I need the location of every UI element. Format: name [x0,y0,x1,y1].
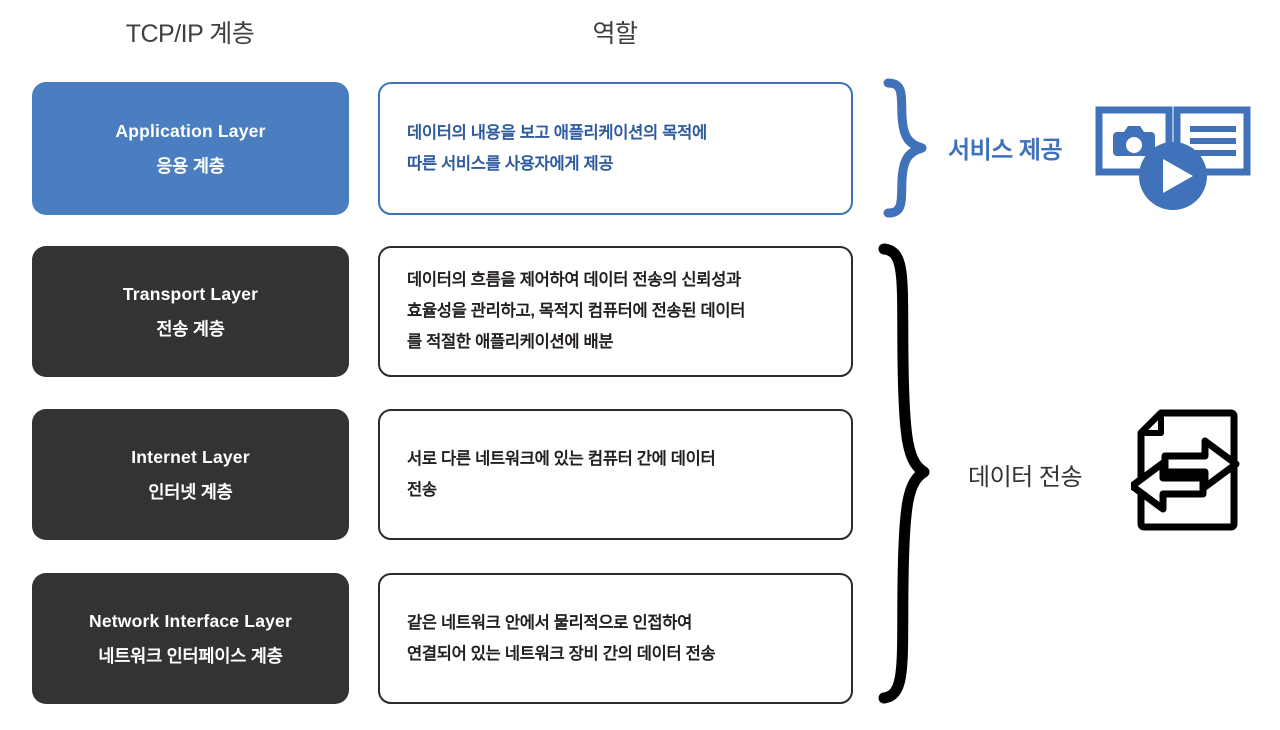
curly-brace-right-icon [872,240,938,708]
diagram-canvas: TCP/IP 계층 역할 Application Layer 응용 계층 Tra… [0,0,1280,730]
role-text-line: 서로 다른 네트워크에 있는 컴퓨터 간에 데이터 [407,444,824,475]
role-text-line: 효율성을 관리하고, 목적지 컴퓨터에 전송된 데이터 [407,296,824,327]
role-text-line: 를 적절한 애플리케이션에 배분 [407,327,824,358]
layer-box-internet[interactable]: Internet Layer 인터넷 계층 [32,409,349,540]
role-box-internet[interactable]: 서로 다른 네트워크에 있는 컴퓨터 간에 데이터 전송 [378,409,853,540]
layer-name-ko: 인터넷 계층 [148,482,232,502]
layer-name-en: Network Interface Layer [89,611,292,631]
layer-name-ko: 네트워크 인터페이스 계층 [98,646,282,666]
layer-box-application[interactable]: Application Layer 응용 계층 [32,82,349,215]
layer-name-en: Transport Layer [123,284,258,304]
role-text-line: 연결되어 있는 네트워크 장비 간의 데이터 전송 [407,639,824,670]
document-exchange-icon [1131,408,1241,532]
group-label-service-provision: 서비스 제공 [948,130,1062,165]
role-text-line: 같은 네트워크 안에서 물리적으로 인접하여 [407,608,824,639]
column-header-role: 역할 [592,14,637,50]
role-text-line: 따른 서비스를 사용자에게 제공 [407,149,824,180]
curly-brace-right-icon [880,76,936,220]
media-player-icon [1095,104,1251,216]
layer-box-network-interface[interactable]: Network Interface Layer 네트워크 인터페이스 계층 [32,573,349,704]
layer-box-transport[interactable]: Transport Layer 전송 계층 [32,246,349,377]
group-label-data-transfer: 데이터 전송 [968,457,1082,492]
role-box-application[interactable]: 데이터의 내용을 보고 애플리케이션의 목적에 따른 서비스를 사용자에게 제공 [378,82,853,215]
role-box-network-interface[interactable]: 같은 네트워크 안에서 물리적으로 인접하여 연결되어 있는 네트워크 장비 간… [378,573,853,704]
role-box-transport[interactable]: 데이터의 흐름을 제어하여 데이터 전송의 신뢰성과 효율성을 관리하고, 목적… [378,246,853,377]
role-text-line: 전송 [407,475,824,506]
layer-name-ko: 응용 계층 [156,156,224,176]
layer-name-en: Application Layer [115,121,265,141]
role-text-line: 데이터의 내용을 보고 애플리케이션의 목적에 [407,118,824,149]
role-text-line: 데이터의 흐름을 제어하여 데이터 전송의 신뢰성과 [407,265,824,296]
layer-name-en: Internet Layer [131,447,250,467]
layer-name-ko: 전송 계층 [156,319,224,339]
column-header-layer: TCP/IP 계층 [126,14,255,50]
